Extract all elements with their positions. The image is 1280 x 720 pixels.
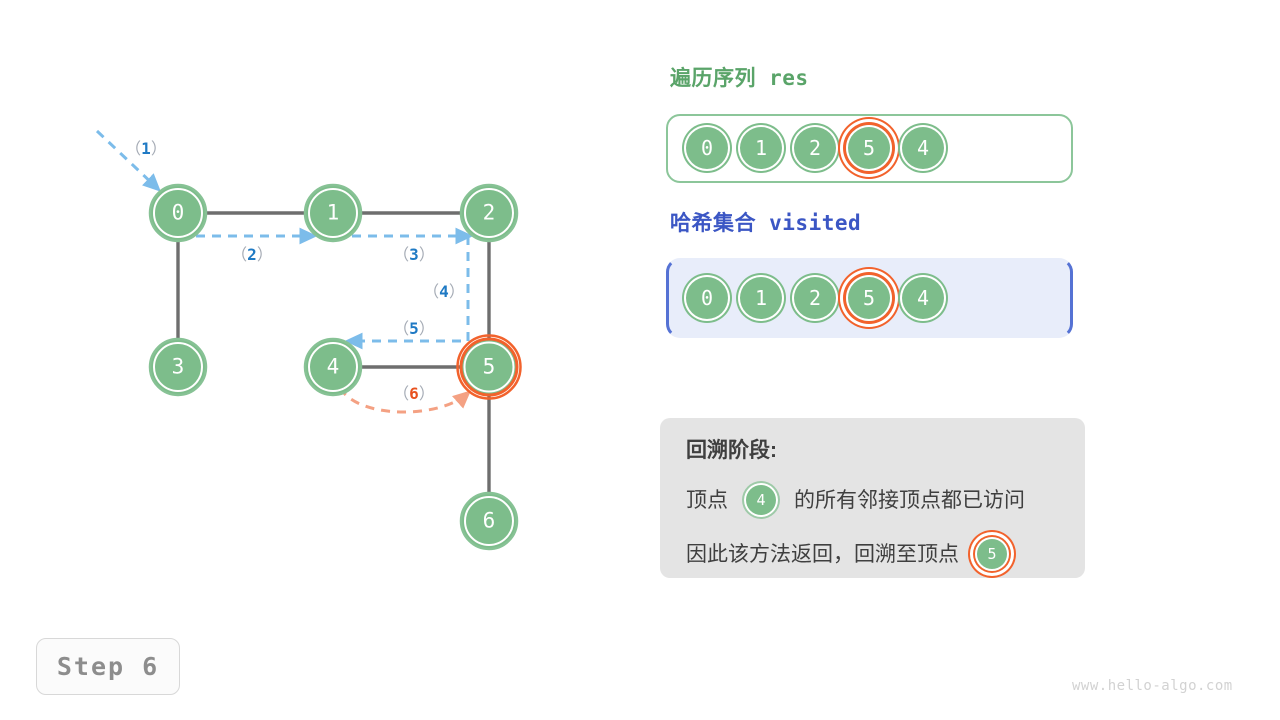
paren-open: （ [393, 384, 409, 403]
note-vertex-chip-4: 4 [744, 483, 778, 517]
note-heading-text: 回溯阶段: [686, 440, 777, 461]
visited-chip-3[interactable]: 5 [846, 275, 892, 321]
paren-close: ） [151, 139, 167, 158]
visited-chip-label: 1 [755, 286, 767, 310]
visited-chip-1[interactable]: 1 [738, 275, 784, 321]
res-chip-label: 1 [755, 136, 767, 160]
graph-nodes [150, 185, 521, 549]
res-chip-label: 0 [701, 136, 713, 160]
note-vertex-chip-5: 5 [975, 537, 1009, 571]
step-order-number: 4 [439, 282, 449, 301]
res-chip-3[interactable]: 5 [846, 125, 892, 171]
traversal-arrows [97, 131, 468, 341]
visited-chip-label: 0 [701, 286, 713, 310]
step-order-label-5: （5） [393, 315, 435, 339]
note-heading: 回溯阶段: [686, 440, 1059, 461]
note-line2-after: 的所有邻接顶点都已访问 [794, 490, 1025, 511]
graph-svg [0, 0, 620, 620]
visited-chip-label: 5 [863, 286, 875, 310]
step-badge-label: Step 6 [57, 652, 159, 681]
step-order-label-3: （3） [393, 241, 435, 265]
paren-open: （ [231, 245, 247, 264]
step-order-label-6: （6） [393, 380, 435, 404]
watermark: www.hello-algo.com [1072, 678, 1233, 694]
visited-chip-label: 2 [809, 286, 821, 310]
note-line-return-backtrack: 因此该方法返回，回溯至顶点 5 [686, 537, 1059, 571]
res-chip-4[interactable]: 4 [900, 125, 946, 171]
paren-open: （ [393, 319, 409, 338]
paren-close: ） [419, 319, 435, 338]
step-order-number: 5 [409, 319, 419, 338]
step-badge: Step 6 [36, 638, 180, 695]
graph-node-3[interactable] [150, 339, 206, 395]
step-order-label-4: （4） [423, 278, 465, 302]
visited-chip-4[interactable]: 4 [900, 275, 946, 321]
paren-close: ） [419, 245, 435, 264]
backtracking-note-box: 回溯阶段: 顶点 4 的所有邻接顶点都已访问 因此该方法返回，回溯至顶点 5 [660, 418, 1085, 578]
screenshot-root: 0 1 2 3 4 5 6 （1） （2） （3） （4） （5） （6） 遍历… [0, 0, 1280, 720]
visited-chip-label: 4 [917, 286, 929, 310]
note-line2-before: 顶点 [686, 490, 728, 511]
visited-chip-row: 0 1 2 5 4 [684, 275, 946, 321]
right-column: 遍历序列 res 0 1 2 5 4 哈希集合 visited 0 1 2 5 … [666, 0, 1266, 720]
graph-node-2[interactable] [461, 185, 517, 241]
note-line-vertex-visited: 顶点 4 的所有邻接顶点都已访问 [686, 483, 1059, 517]
step-order-number: 2 [247, 245, 257, 264]
graph-node-1[interactable] [305, 185, 361, 241]
res-chip-row: 0 1 2 5 4 [684, 125, 946, 171]
res-chip-2[interactable]: 2 [792, 125, 838, 171]
step-order-number: 6 [409, 384, 419, 403]
note-chip-label: 4 [756, 493, 765, 508]
res-chip-label: 2 [809, 136, 821, 160]
paren-close: ） [449, 282, 465, 301]
paren-close: ） [419, 384, 435, 403]
step-order-label-1: （1） [125, 135, 167, 159]
graph-node-5[interactable] [458, 336, 521, 399]
res-chip-0[interactable]: 0 [684, 125, 730, 171]
paren-close: ） [257, 245, 273, 264]
res-panel-title: 遍历序列 res [670, 62, 809, 92]
graph-node-4[interactable] [305, 339, 361, 395]
note-line3-before: 因此该方法返回，回溯至顶点 [686, 544, 959, 565]
visited-chip-0[interactable]: 0 [684, 275, 730, 321]
step-order-number: 3 [409, 245, 419, 264]
res-chip-label: 4 [917, 136, 929, 160]
paren-open: （ [393, 245, 409, 264]
res-chip-label: 5 [863, 136, 875, 160]
paren-open: （ [423, 282, 439, 301]
res-chip-1[interactable]: 1 [738, 125, 784, 171]
graph-visualization: 0 1 2 3 4 5 6 （1） （2） （3） （4） （5） （6） [0, 0, 620, 620]
visited-chip-2[interactable]: 2 [792, 275, 838, 321]
note-chip-label: 5 [987, 547, 996, 562]
graph-node-6[interactable] [461, 493, 517, 549]
visited-panel-title: 哈希集合 visited [670, 207, 861, 237]
paren-open: （ [125, 139, 141, 158]
step-order-label-2: （2） [231, 241, 273, 265]
step-order-number: 1 [141, 139, 151, 158]
graph-node-0[interactable] [150, 185, 206, 241]
